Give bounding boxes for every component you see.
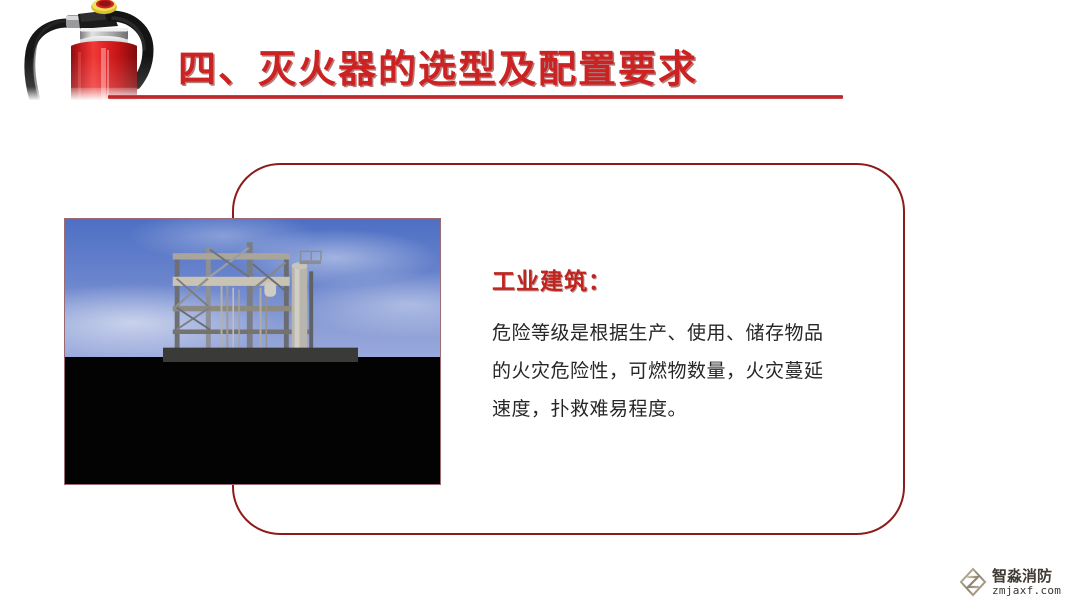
slide-header: 四、灭火器的选型及配置要求: [0, 0, 1080, 110]
content-text-block: 工业建筑： 危险等级是根据生产、使用、储存物品的火灾危险性，可燃物数量，火灾蔓延…: [492, 262, 842, 428]
watermark-url: zmjaxf.com: [992, 585, 1061, 596]
industrial-structure-photo: [64, 218, 441, 485]
photo-dark-region: [65, 357, 440, 484]
content-heading: 工业建筑：: [492, 262, 842, 296]
watermark-brand-name: 智淼消防: [992, 569, 1061, 584]
content-paragraph: 危险等级是根据生产、使用、储存物品的火灾危险性，可燃物数量，火灾蔓延速度，扑救难…: [492, 314, 842, 428]
page-title: 四、灭火器的选型及配置要求: [178, 38, 698, 93]
watermark-logo: 智淼消防 zmjaxf.com: [958, 563, 1076, 601]
watermark-text-group: 智淼消防 zmjaxf.com: [992, 569, 1061, 596]
slide-canvas: 四、灭火器的选型及配置要求: [0, 0, 1080, 608]
title-underline: [108, 95, 843, 99]
photo-steel-structure: [163, 235, 358, 362]
zm-diamond-logo-icon: [958, 567, 988, 597]
fire-extinguisher-icon: [8, 0, 180, 100]
